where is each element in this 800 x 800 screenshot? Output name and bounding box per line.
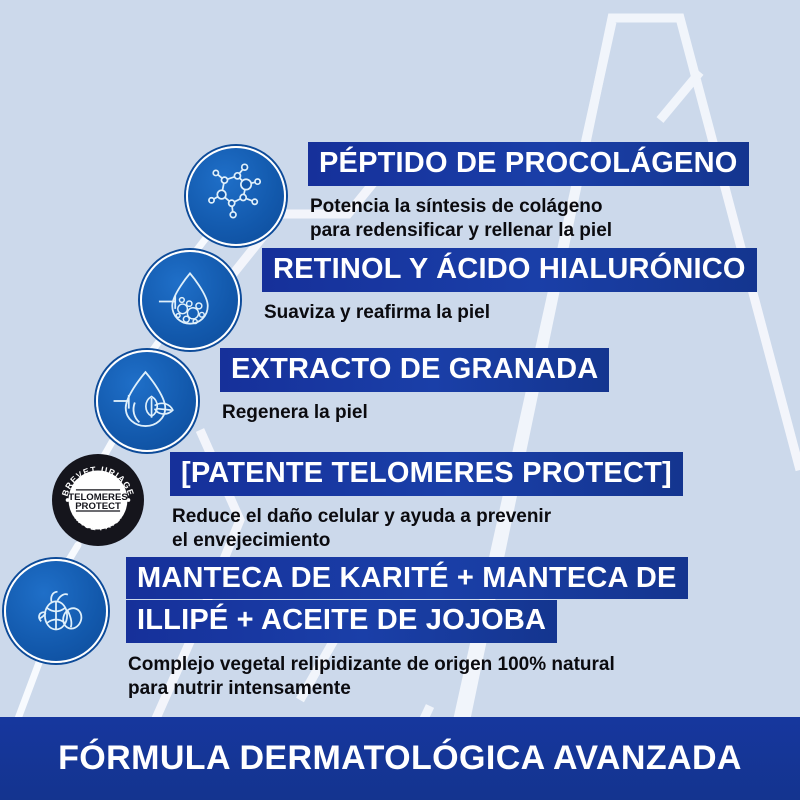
feature-headline: EXTRACTO DE GRANADA: [220, 348, 609, 392]
infographic-canvas: PÉPTIDO DE PROCOLÁGENO Potencia la sínte…: [0, 0, 800, 800]
seal-center-line2: PROTECT: [75, 501, 121, 512]
feature-row-retinol: RETINOL Y ÁCIDO HIALURÓNICO Suaviza y re…: [140, 248, 757, 350]
feature-row-peptido: PÉPTIDO DE PROCOLÁGENO Potencia la sínte…: [186, 142, 749, 246]
feature-row-telomeres: BREVET URIAGE URIAGE PATENT TELOMERES PR…: [52, 452, 683, 553]
feature-headline-line2: ILLIPÉ + ACEITE DE JOJOBA: [126, 600, 557, 643]
feature-subtext: Suaviza y reafirma la piel: [264, 301, 490, 325]
feature-headline-line1: MANTECA DE KARITÉ + MANTECA DE: [126, 557, 688, 599]
feature-row-granada: EXTRACTO DE GRANADA Regenera la piel: [96, 348, 609, 452]
feature-subtext: Regenera la piel: [222, 401, 368, 425]
droplet-leaf-icon: [96, 350, 198, 452]
telomeres-protect-seal: BREVET URIAGE URIAGE PATENT TELOMERES PR…: [52, 454, 144, 546]
feature-subtext: Potencia la síntesis de colágeno para re…: [310, 195, 612, 243]
bottom-banner-text: FÓRMULA DERMATOLÓGICA AVANZADA: [58, 739, 742, 778]
droplet-bubbles-icon: [140, 250, 240, 350]
feature-subtext: Reduce el daño celular y ayuda a preveni…: [172, 505, 551, 553]
feature-headline: RETINOL Y ÁCIDO HIALURÓNICO: [262, 248, 757, 292]
feature-headline: [PATENTE TELOMERES PROTECT]: [170, 452, 683, 496]
feature-row-manteca: MANTECA DE KARITÉ + MANTECA DE ILLIPÉ + …: [4, 557, 688, 701]
molecule-icon: [186, 146, 286, 246]
bottom-banner: FÓRMULA DERMATOLÓGICA AVANZADA: [0, 717, 800, 800]
feature-headline: PÉPTIDO DE PROCOLÁGENO: [308, 142, 749, 186]
shea-nuts-icon: [4, 559, 108, 663]
feature-subtext: Complejo vegetal relipidizante de origen…: [128, 653, 615, 701]
